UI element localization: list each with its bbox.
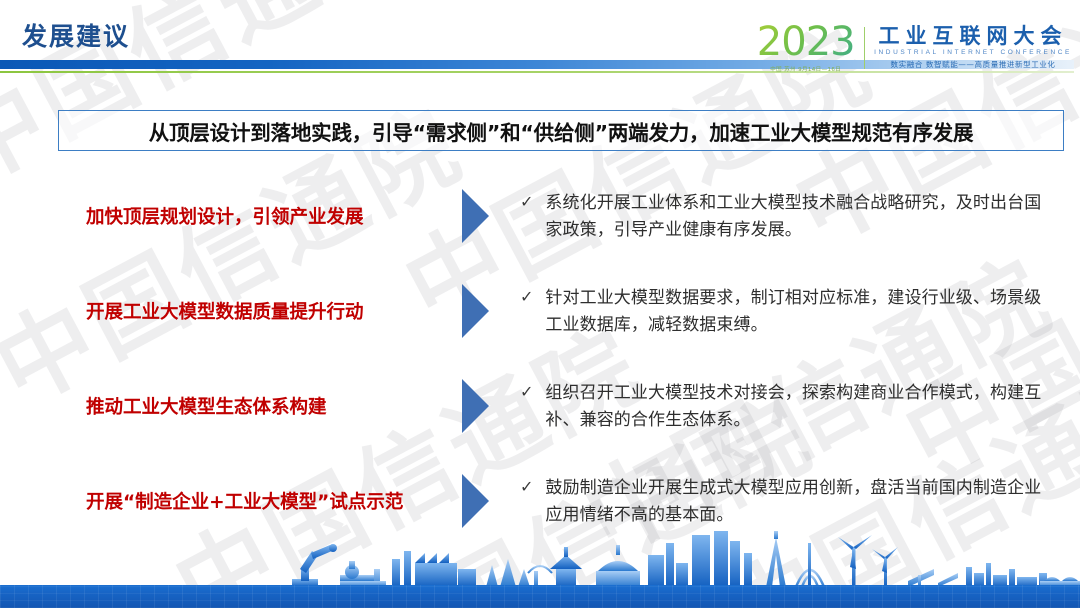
row-body-cell: ✓ 系统化开展工业体系和工业大模型技术融合战略研究，及时出台国家政策，引导产业健… [520, 188, 1080, 243]
row-label-cell: 开展“制造企业+工业大模型”试点示范 [0, 488, 430, 514]
logo-conference-name: 工业互联网大会 [879, 25, 1068, 47]
row-label-cell: 推动工业大模型生态体系构建 [0, 393, 430, 419]
arrow-right-icon [462, 474, 489, 528]
row-label: 开展“制造企业+工业大模型”试点示范 [86, 488, 403, 514]
list-item: 开展工业大模型数据质量提升行动 ✓ 针对工业大模型数据要求，制订相对应标准，建设… [0, 263, 1080, 358]
arrow-right-icon [462, 379, 489, 433]
statement-box: 从顶层设计到落地实践，引导“需求侧”和“供给侧”两端发力，加速工业大模型规范有序… [58, 110, 1064, 151]
row-body-cell: ✓ 组织召开工业大模型技术对接会，探索构建商业合作模式，构建互补、兼容的合作生态… [520, 378, 1080, 433]
check-icon: ✓ [520, 475, 533, 500]
row-body-text: 系统化开展工业体系和工业大模型技术融合战略研究，及时出台国家政策，引导产业健康有… [545, 190, 1054, 243]
logo-date-line: 中国·苏州 9月14日—16日 [770, 65, 841, 73]
row-arrow-cell [430, 474, 520, 528]
list-item: 推动工业大模型生态体系构建 ✓ 组织召开工业大模型技术对接会，探索构建商业合作模… [0, 358, 1080, 453]
logo-conference-name-en: INDUSTRIAL INTERNET CONFERENCE [874, 49, 1072, 56]
statement-text: 从顶层设计到落地实践，引导“需求侧”和“供给侧”两端发力，加速工业大模型规范有序… [149, 116, 974, 146]
row-label-cell: 开展工业大模型数据质量提升行动 [0, 298, 430, 324]
arrow-right-icon [462, 189, 489, 243]
row-label-cell: 加快顶层规划设计，引领产业发展 [0, 203, 430, 229]
recommendation-list: 加快顶层规划设计，引领产业发展 ✓ 系统化开展工业体系和工业大模型技术融合战略研… [0, 168, 1080, 548]
row-body-cell: ✓ 鼓励制造企业开展生成式大模型应用创新，盘活当前国内制造企业应用情绪不高的基本… [520, 473, 1080, 528]
list-item: 开展“制造企业+工业大模型”试点示范 ✓ 鼓励制造企业开展生成式大模型应用创新，… [0, 453, 1080, 548]
check-icon: ✓ [520, 380, 533, 405]
row-label: 推动工业大模型生态体系构建 [86, 393, 327, 419]
list-item: 加快顶层规划设计，引领产业发展 ✓ 系统化开展工业体系和工业大模型技术融合战略研… [0, 168, 1080, 263]
row-arrow-cell [430, 189, 520, 243]
row-body-text: 组织召开工业大模型技术对接会，探索构建商业合作模式，构建互补、兼容的合作生态体系… [545, 380, 1054, 433]
page-title: 发展建议 [22, 17, 130, 53]
row-arrow-cell [430, 379, 520, 433]
row-label: 加快顶层规划设计，引领产业发展 [86, 203, 364, 229]
logo-name-block: 工业互联网大会 INDUSTRIAL INTERNET CONFERENCE 数… [874, 25, 1072, 70]
arrow-right-icon [462, 284, 489, 338]
check-icon: ✓ [520, 285, 533, 310]
row-label: 开展工业大模型数据质量提升行动 [86, 298, 364, 324]
logo-year: 2023 [757, 22, 855, 62]
row-body-text: 鼓励制造企业开展生成式大模型应用创新，盘活当前国内制造企业应用情绪不高的基本面。 [545, 475, 1054, 528]
logo-tagline: 数实融合 数智赋能——高质量推进新型工业化 [891, 59, 1056, 70]
check-icon: ✓ [520, 190, 533, 215]
footer-blue-band [0, 585, 1080, 608]
logo-year-block: 2023 中国·苏州 9月14日—16日 [757, 22, 864, 73]
row-arrow-cell [430, 284, 520, 338]
logo-divider [864, 27, 866, 69]
slide-canvas: 中国信通院 中国信通院 中国信通院 中国信通院 中国信通院 中国信通院 中国信通… [0, 0, 1080, 608]
row-body-text: 针对工业大模型数据要求，制订相对应标准，建设行业级、场景级工业数据库，减轻数据束… [545, 285, 1054, 338]
conference-logo: 2023 中国·苏州 9月14日—16日 工业互联网大会 INDUSTRIAL … [757, 22, 1072, 73]
row-body-cell: ✓ 针对工业大模型数据要求，制订相对应标准，建设行业级、场景级工业数据库，减轻数… [520, 283, 1080, 338]
